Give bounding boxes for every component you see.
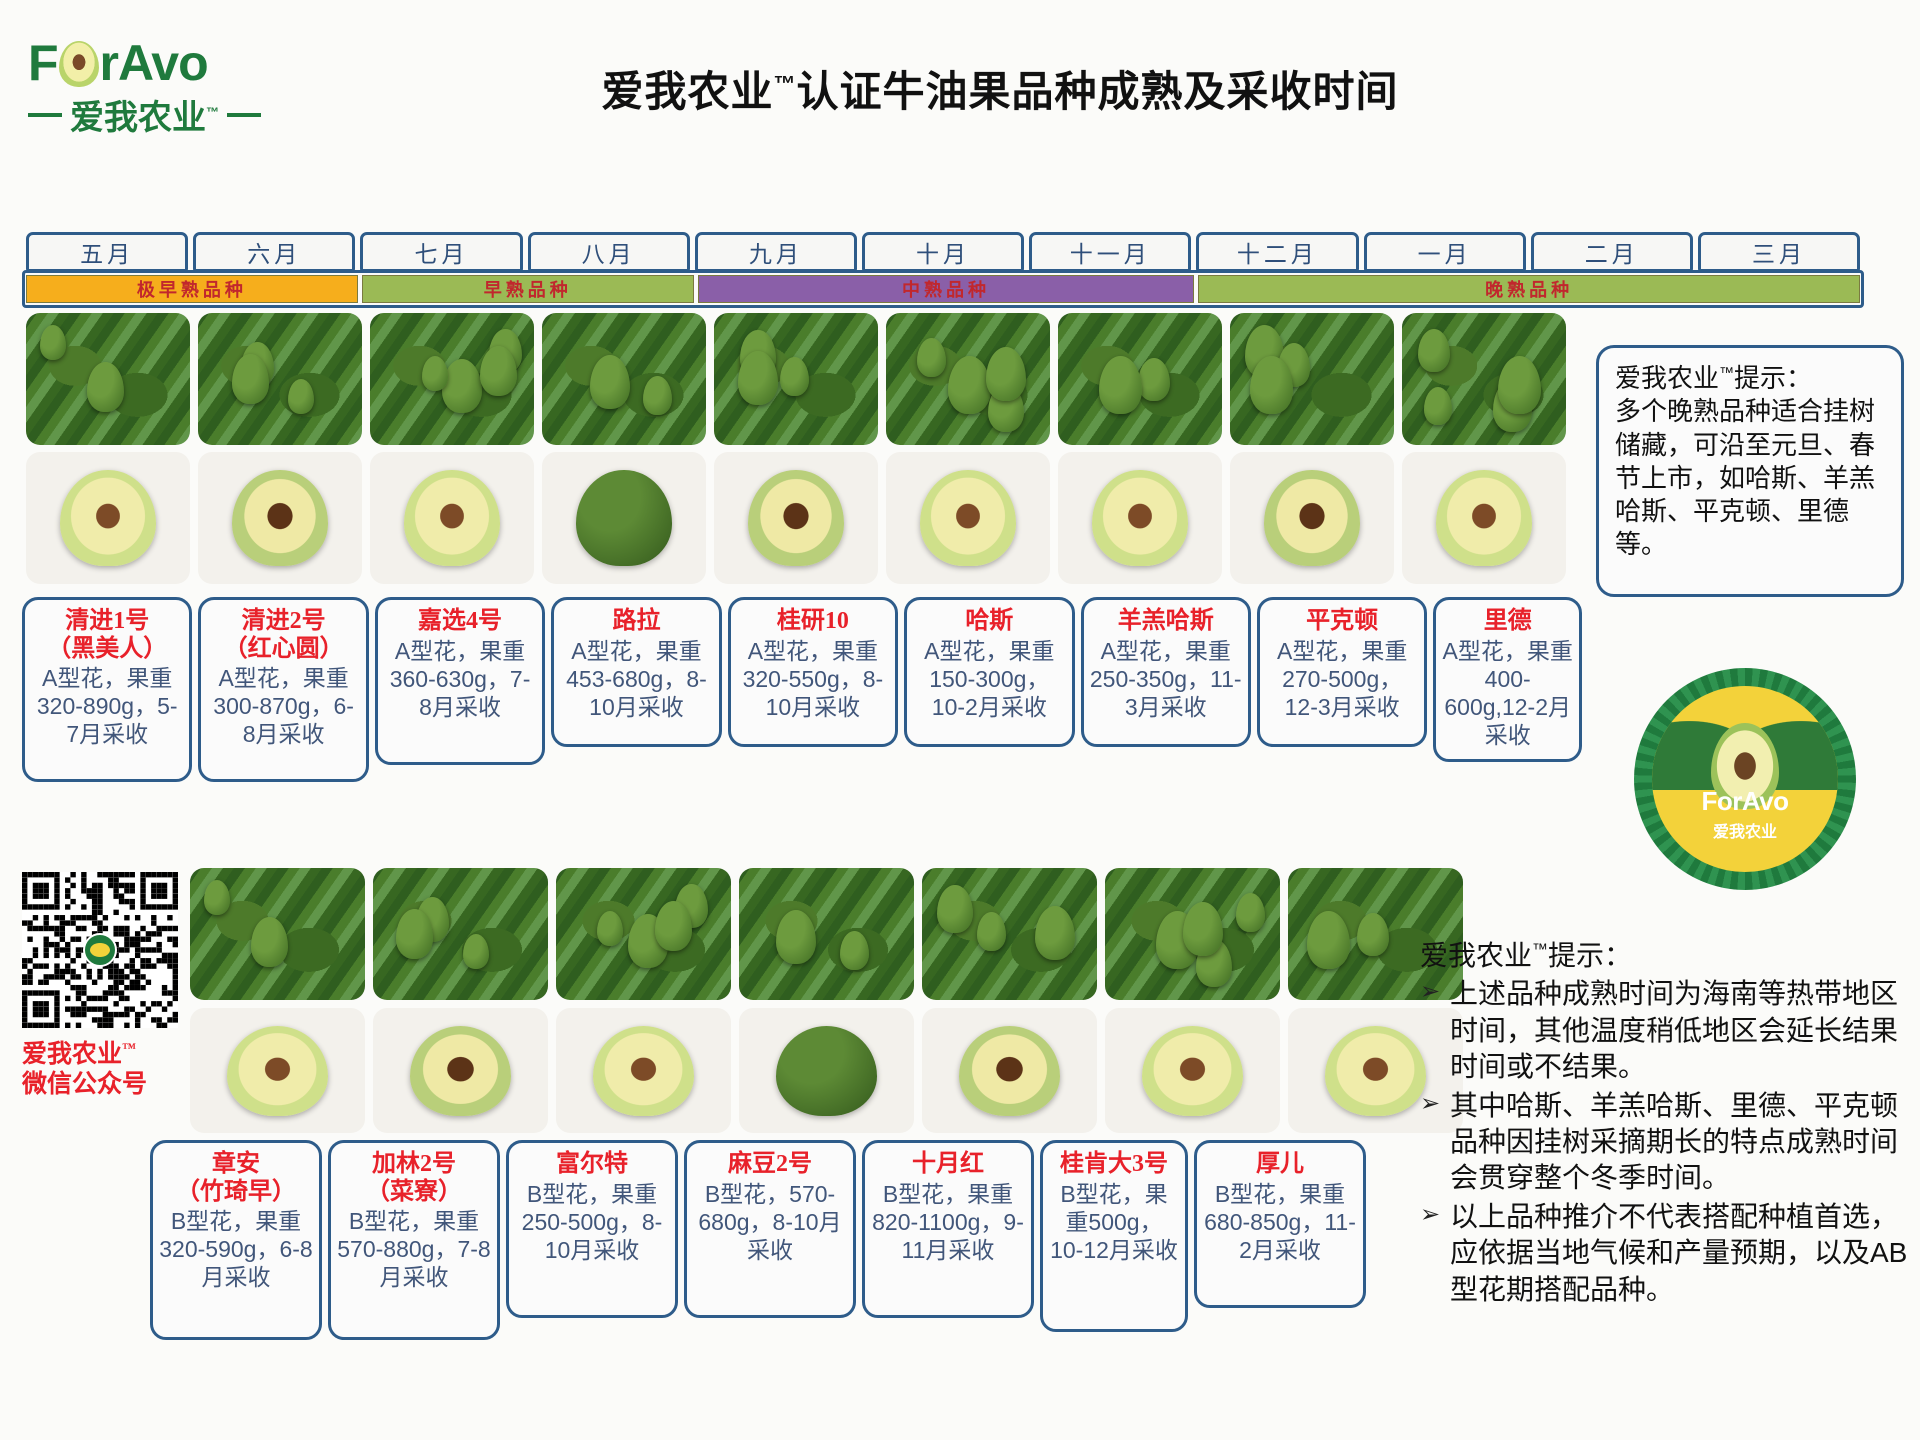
variety-name: 路拉 bbox=[560, 608, 712, 636]
variety-name: 厚儿 bbox=[1203, 1151, 1357, 1179]
bullet-arrow-icon: ➢ bbox=[1420, 1199, 1442, 1308]
logo-cn-text: 爱我农业 bbox=[70, 99, 206, 137]
variety-alt-name: （竹琦早） bbox=[159, 1179, 313, 1207]
variety-description: A型花，果重270-500g，12-3月采收 bbox=[1266, 637, 1418, 721]
qr-label-line2: 微信公众号 bbox=[22, 1070, 192, 1100]
avocado-fruit-icon bbox=[463, 934, 489, 969]
season-band-row: 极早熟品种早熟品种中熟品种晚熟品种 bbox=[26, 275, 1860, 303]
avocado-fruit-icon bbox=[1424, 387, 1452, 425]
variety-description: A型花，果重150-300g，10-2月采收 bbox=[913, 637, 1065, 721]
variety-description: A型花，果重320-890g，5-7月采收 bbox=[31, 664, 183, 748]
month-cell-9: 一月 bbox=[1364, 232, 1526, 272]
notes-head: 爱我农业 bbox=[1420, 940, 1532, 971]
variety-name: 麻豆2号 bbox=[693, 1151, 847, 1179]
note-item: ➢其中哈斯、羊羔哈斯、里德、平克顿品种因挂树采摘期长的特点成熟时间会贯穿整个冬季… bbox=[1420, 1088, 1920, 1197]
month-cell-2: 六月 bbox=[193, 232, 355, 272]
logo-word-pre: F bbox=[28, 35, 58, 91]
note-item: ➢上述品种成熟时间为海南等热带地区时间，其他温度稍低地区会延长结果时间或不结果。 bbox=[1420, 976, 1920, 1085]
variety-card[interactable]: 富尔特B型花，果重250-500g，8-10月采收 bbox=[506, 1140, 678, 1318]
tree-photo bbox=[714, 313, 878, 445]
variety-name: 羊羔哈斯 bbox=[1090, 608, 1242, 636]
notes-heading: 爱我农业™提示： bbox=[1420, 938, 1920, 974]
avocado-half-icon bbox=[593, 1026, 695, 1116]
tip-box-top: 爱我农业™提示：多个晚熟品种适合挂树储藏，可沿至元旦、春节上市，如哈斯、羊羔哈斯… bbox=[1596, 345, 1904, 597]
note-text: 其中哈斯、羊羔哈斯、里德、平克顿品种因挂树采摘期长的特点成熟时间会贯穿整个冬季时… bbox=[1450, 1088, 1920, 1197]
variety-alt-name: （黑美人） bbox=[31, 636, 183, 664]
cut-fruit-photo bbox=[370, 452, 534, 584]
cut-fruit-photo bbox=[739, 1008, 914, 1133]
variety-card[interactable]: 嘉选4号A型花，果重360-630g，7-8月采收 bbox=[375, 597, 545, 765]
variety-name: 里德 bbox=[1442, 608, 1573, 636]
avocado-fruit-icon bbox=[917, 338, 946, 377]
avocado-half-icon bbox=[1264, 470, 1359, 565]
variety-name: 清进1号 bbox=[31, 608, 183, 636]
variety-description: B型花，果重820-1100g，9-11月采收 bbox=[871, 1180, 1025, 1264]
variety-description: B型花，果重500g，10-12月采收 bbox=[1049, 1180, 1179, 1264]
avocado-fruit-icon bbox=[948, 356, 991, 414]
tree-photo bbox=[1230, 313, 1394, 445]
avocado-half-icon bbox=[227, 1026, 329, 1116]
avocado-half-icon bbox=[1142, 1026, 1244, 1116]
season-band-3: 中熟品种 bbox=[698, 275, 1195, 303]
month-cell-4: 八月 bbox=[528, 232, 690, 272]
tree-photo bbox=[1402, 313, 1566, 445]
qr-tm-mark: ™ bbox=[122, 1042, 136, 1057]
seal-outer-ring: ForAvo 爱我农业 bbox=[1634, 668, 1856, 890]
variety-card[interactable]: 桂肯大3号B型花，果重500g，10-12月采收 bbox=[1040, 1140, 1188, 1332]
tree-photo bbox=[370, 313, 534, 445]
month-cell-5: 九月 bbox=[695, 232, 857, 272]
avocado-half-icon bbox=[748, 470, 843, 565]
tree-photo bbox=[739, 868, 914, 1000]
variety-name: 嘉选4号 bbox=[384, 608, 536, 636]
notes-block: 爱我农业™提示： ➢上述品种成熟时间为海南等热带地区时间，其他温度稍低地区会延长… bbox=[1420, 938, 1920, 1308]
qr-center-logo-icon bbox=[83, 933, 117, 967]
page-title: 爱我农业™认证牛油果品种成熟及采收时间 bbox=[470, 58, 1530, 119]
variety-card[interactable]: 桂研10A型花，果重320-550g，8-10月采收 bbox=[728, 597, 898, 747]
avocado-half-icon bbox=[232, 470, 327, 565]
avocado-fruit-icon bbox=[442, 359, 482, 413]
wechat-qr-block: 爱我农业™ 微信公众号 bbox=[22, 872, 192, 1099]
logo-word-post: rAvo bbox=[100, 35, 208, 91]
avocado-fruit-icon bbox=[1236, 893, 1265, 932]
avocado-half-icon bbox=[1325, 1026, 1427, 1116]
page-title-part-a: 爱我农业 bbox=[601, 68, 773, 115]
variety-card[interactable]: 羊羔哈斯A型花，果重250-350g，11-3月采收 bbox=[1081, 597, 1251, 747]
season-band-1: 极早熟品种 bbox=[26, 275, 358, 303]
tip-box-text: 爱我农业™提示：多个晚熟品种适合挂树储藏，可沿至元旦、春节上市，如哈斯、羊羔哈斯… bbox=[1615, 362, 1885, 562]
variety-description: A型花，果重320-550g，8-10月采收 bbox=[737, 637, 889, 721]
avocado-fruit-icon bbox=[204, 880, 230, 915]
bullet-arrow-icon: ➢ bbox=[1420, 976, 1442, 1085]
variety-name: 桂研10 bbox=[737, 608, 889, 636]
cut-fruit-photo bbox=[1058, 452, 1222, 584]
season-band-2: 早熟品种 bbox=[362, 275, 694, 303]
variety-card[interactable]: 加林2号（菜寮）B型花，果重570-880g，7-8月采收 bbox=[328, 1140, 500, 1340]
logo-rule-right bbox=[227, 113, 261, 117]
cut-fruit-photo bbox=[1105, 1008, 1280, 1133]
avocado-fruit-icon bbox=[40, 325, 66, 360]
avocado-fruit-icon bbox=[840, 931, 869, 970]
avocado-half-icon bbox=[576, 470, 671, 565]
variety-description: B型花，果重570-880g，7-8月采收 bbox=[337, 1207, 491, 1291]
avocado-fruit-icon bbox=[977, 912, 1006, 951]
tree-photo-row-a bbox=[26, 313, 1566, 445]
avocado-fruit-icon bbox=[1138, 358, 1170, 401]
bullet-arrow-icon: ➢ bbox=[1420, 1088, 1442, 1197]
notes-tm-mark: ™ bbox=[1532, 942, 1548, 959]
tip-box-head: 爱我农业 bbox=[1615, 363, 1719, 393]
variety-card[interactable]: 平克顿A型花，果重270-500g，12-3月采收 bbox=[1257, 597, 1427, 747]
variety-card[interactable]: 路拉A型花，果重453-680g，8-10月采收 bbox=[551, 597, 721, 747]
variety-description: A型花，果重453-680g，8-10月采收 bbox=[560, 637, 712, 721]
title-tm-mark: ™ bbox=[774, 71, 797, 96]
avocado-fruit-icon bbox=[1035, 906, 1075, 960]
infographic-page: FrAvo 爱我农业™ 爱我农业™认证牛油果品种成熟及采收时间 五月六月七月八月… bbox=[0, 0, 1920, 1440]
tree-photo bbox=[886, 313, 1050, 445]
cut-fruit-photo bbox=[190, 1008, 365, 1133]
avocado-fruit-icon bbox=[251, 917, 288, 967]
avocado-fruit-icon bbox=[776, 910, 816, 964]
qr-code[interactable] bbox=[22, 872, 178, 1028]
month-cell-8: 十二月 bbox=[1196, 232, 1358, 272]
variety-alt-name: （红心圆） bbox=[207, 636, 359, 664]
month-cell-3: 七月 bbox=[360, 232, 522, 272]
variety-card[interactable]: 麻豆2号B型花，570-680g，8-10月采收 bbox=[684, 1140, 856, 1318]
variety-card-row-b: 章安（竹琦早）B型花，果重320-590g，6-8月采收加林2号（菜寮）B型花，… bbox=[150, 1140, 1400, 1340]
avocado-fruit-icon bbox=[590, 355, 630, 409]
variety-description: B型花，果重250-500g，8-10月采收 bbox=[515, 1180, 669, 1264]
logo-rule-left bbox=[28, 113, 62, 117]
avocado-fruit-icon bbox=[1357, 913, 1389, 956]
avocado-fruit-icon bbox=[1498, 356, 1541, 414]
tree-photo bbox=[542, 313, 706, 445]
page-title-part-b: 认证牛油果品种成熟及采收时间 bbox=[797, 68, 1399, 115]
variety-description: A型花，果重360-630g，7-8月采收 bbox=[384, 637, 536, 721]
variety-description: A型花，果重400-600g,12-2月采收 bbox=[1442, 637, 1573, 749]
avocado-half-icon bbox=[410, 1026, 512, 1116]
foravo-logo: FrAvo 爱我农业™ bbox=[28, 38, 288, 148]
avocado-fruit-icon bbox=[780, 357, 809, 396]
tree-photo bbox=[26, 313, 190, 445]
variety-card[interactable]: 里德A型花，果重400-600g,12-2月采收 bbox=[1433, 597, 1582, 762]
cut-fruit-photo bbox=[26, 452, 190, 584]
avocado-half-icon bbox=[1092, 470, 1187, 565]
tree-photo bbox=[190, 868, 365, 1000]
fruit-photo-row-b bbox=[190, 1008, 1463, 1133]
logo-wordmark: FrAvo bbox=[28, 38, 288, 88]
variety-description: B型花，果重680-850g，11-2月采收 bbox=[1203, 1180, 1357, 1264]
cut-fruit-photo bbox=[1230, 452, 1394, 584]
avocado-fruit-icon bbox=[87, 362, 124, 412]
tree-photo bbox=[198, 313, 362, 445]
avocado-half-icon bbox=[959, 1026, 1061, 1116]
note-text: 以上品种推介不代表搭配种植首选，应依据当地气候和产量预期，以及AB型花期搭配品种… bbox=[1450, 1199, 1920, 1308]
avocado-fruit-icon bbox=[643, 376, 672, 415]
variety-card-row-a: 清进1号（黑美人）A型花，果重320-890g，5-7月采收清进2号（红心圆）A… bbox=[22, 597, 1582, 782]
cut-fruit-photo bbox=[542, 452, 706, 584]
tree-photo bbox=[373, 868, 548, 1000]
tip-box-head-tail: 提示： bbox=[1734, 363, 1812, 393]
avocado-half-icon bbox=[920, 470, 1015, 565]
variety-card[interactable]: 十月红B型花，果重820-1100g，9-11月采收 bbox=[862, 1140, 1034, 1318]
qr-center-dot-icon bbox=[90, 943, 110, 957]
seal-line1: ForAvo bbox=[1652, 786, 1838, 817]
avocado-fruit-icon bbox=[1418, 329, 1450, 372]
variety-name: 桂肯大3号 bbox=[1049, 1151, 1179, 1179]
avocado-half-icon bbox=[60, 470, 155, 565]
cut-fruit-photo bbox=[373, 1008, 548, 1133]
cut-fruit-photo bbox=[1402, 452, 1566, 584]
variety-name: 富尔特 bbox=[515, 1151, 669, 1179]
tree-photo bbox=[1105, 868, 1280, 1000]
avocado-half-icon bbox=[776, 1026, 878, 1116]
variety-name: 加林2号 bbox=[337, 1151, 491, 1179]
cut-fruit-photo bbox=[886, 452, 1050, 584]
variety-description: A型花，果重250-350g，11-3月采收 bbox=[1090, 637, 1242, 721]
avocado-half-icon bbox=[404, 470, 499, 565]
variety-card[interactable]: 章安（竹琦早）B型花，果重320-590g，6-8月采收 bbox=[150, 1140, 322, 1340]
cut-fruit-photo bbox=[922, 1008, 1097, 1133]
month-cell-7: 十一月 bbox=[1029, 232, 1191, 272]
variety-description: B型花，果重320-590g，6-8月采收 bbox=[159, 1207, 313, 1291]
avocado-fruit-icon bbox=[1183, 902, 1223, 956]
foravo-seal-badge: ForAvo 爱我农业 bbox=[1634, 668, 1856, 890]
avocado-fruit-icon bbox=[1307, 911, 1350, 969]
variety-card[interactable]: 厚儿B型花，果重680-850g，11-2月采收 bbox=[1194, 1140, 1366, 1308]
variety-description: B型花，570-680g，8-10月采收 bbox=[693, 1180, 847, 1264]
variety-name: 清进2号 bbox=[207, 608, 359, 636]
tree-photo bbox=[556, 868, 731, 1000]
qr-label-line1: 爱我农业 bbox=[22, 1041, 122, 1068]
logo-chinese-name: 爱我农业™ bbox=[28, 90, 288, 139]
seal-text: ForAvo 爱我农业 bbox=[1652, 786, 1838, 842]
variety-name: 哈斯 bbox=[913, 608, 1065, 636]
note-item: ➢以上品种推介不代表搭配种植首选，应依据当地气候和产量预期，以及AB型花期搭配品… bbox=[1420, 1199, 1920, 1308]
tree-photo-row-b bbox=[190, 868, 1463, 1000]
tree-photo bbox=[1058, 313, 1222, 445]
seal-line2: 爱我农业 bbox=[1652, 818, 1838, 842]
tip-box-body: 多个晚熟品种适合挂树储藏，可沿至元旦、春节上市，如哈斯、羊羔哈斯、平克顿、里德等… bbox=[1615, 396, 1875, 559]
tip-box-tm: ™ bbox=[1719, 364, 1734, 381]
month-cell-11: 三月 bbox=[1698, 232, 1860, 272]
avocado-fruit-icon bbox=[937, 885, 973, 934]
notes-head-tail: 提示： bbox=[1548, 940, 1632, 971]
variety-card[interactable]: 清进2号（红心圆）A型花，果重300-870g，6-8月采收 bbox=[198, 597, 368, 782]
variety-alt-name: （菜寮） bbox=[337, 1179, 491, 1207]
avocado-fruit-icon bbox=[288, 379, 314, 414]
variety-card[interactable]: 哈斯A型花，果重150-300g，10-2月采收 bbox=[904, 597, 1074, 747]
qr-label: 爱我农业™ 微信公众号 bbox=[22, 1040, 192, 1099]
tree-photo bbox=[922, 868, 1097, 1000]
avocado-o-icon bbox=[59, 41, 99, 87]
variety-name: 平克顿 bbox=[1266, 608, 1418, 636]
note-text: 上述品种成熟时间为海南等热带地区时间，其他温度稍低地区会延长结果时间或不结果。 bbox=[1450, 976, 1920, 1085]
variety-name: 十月红 bbox=[871, 1151, 1025, 1179]
notes-list: ➢上述品种成熟时间为海南等热带地区时间，其他温度稍低地区会延长结果时间或不结果。… bbox=[1420, 976, 1920, 1308]
cut-fruit-photo bbox=[198, 452, 362, 584]
logo-tm-mark: ™ bbox=[206, 105, 219, 120]
month-cell-6: 十月 bbox=[862, 232, 1024, 272]
variety-card[interactable]: 清进1号（黑美人）A型花，果重320-890g，5-7月采收 bbox=[22, 597, 192, 782]
month-cell-1: 五月 bbox=[26, 232, 188, 272]
month-header-row: 五月六月七月八月九月十月十一月十二月一月二月三月 bbox=[26, 232, 1860, 272]
avocado-half-icon bbox=[1436, 470, 1531, 565]
season-band-4: 晚熟品种 bbox=[1198, 275, 1860, 303]
fruit-photo-row-a bbox=[26, 452, 1566, 584]
month-cell-10: 二月 bbox=[1531, 232, 1693, 272]
cut-fruit-photo bbox=[714, 452, 878, 584]
variety-name: 章安 bbox=[159, 1151, 313, 1179]
avocado-fruit-icon bbox=[597, 911, 623, 946]
cut-fruit-photo bbox=[556, 1008, 731, 1133]
variety-description: A型花，果重300-870g，6-8月采收 bbox=[207, 664, 359, 748]
avocado-fruit-icon bbox=[986, 347, 1026, 401]
seal-inner-disc: ForAvo 爱我农业 bbox=[1652, 686, 1838, 872]
avocado-fruit-icon bbox=[422, 356, 448, 391]
avocado-fruit-icon bbox=[1099, 356, 1142, 414]
